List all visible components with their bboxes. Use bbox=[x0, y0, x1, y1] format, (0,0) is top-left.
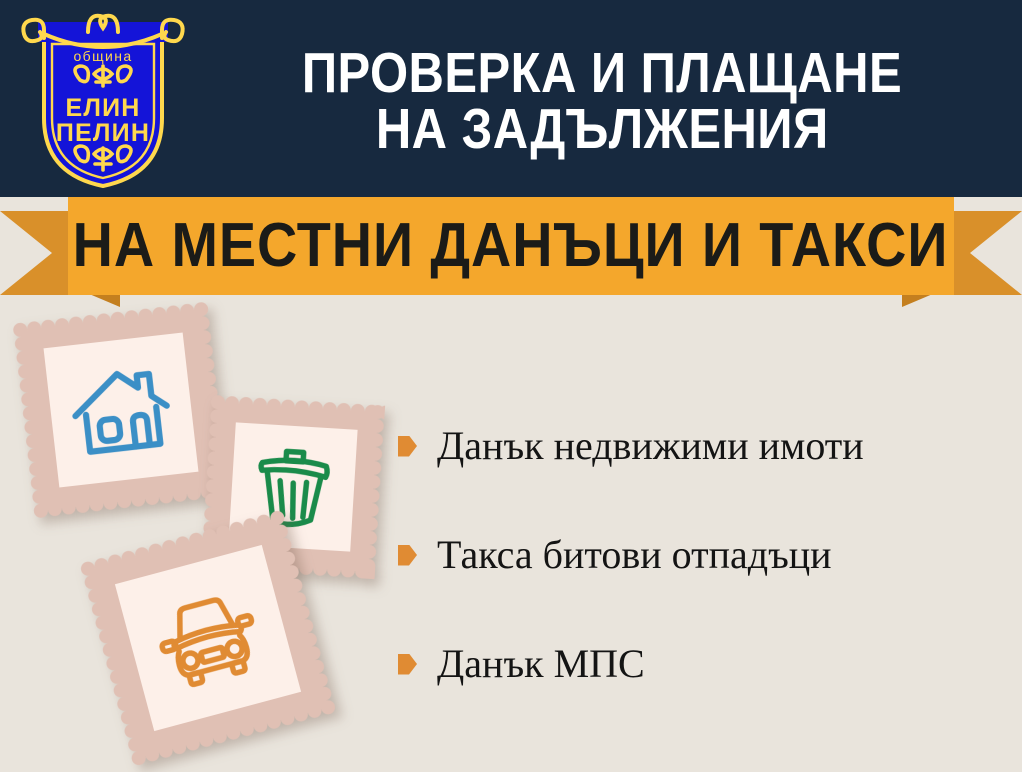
stamp-card-car-paper bbox=[115, 545, 301, 731]
list-item-label: Данък недвижими имоти bbox=[437, 425, 864, 467]
subtitle-ribbon: НА МЕСТНИ ДАНЪЦИ И ТАКСИ bbox=[0, 197, 1022, 309]
page-title-line-2: НА ЗАДЪЛЖЕНИЯ bbox=[376, 101, 829, 157]
list-item[interactable]: Данък МПС bbox=[398, 636, 1018, 692]
ribbon-text: НА МЕСТНИ ДАНЪЦИ И ТАКСИ bbox=[73, 215, 949, 277]
crest-text-line1: ЕЛИН bbox=[65, 94, 140, 122]
list-item[interactable]: Данък недвижими имоти bbox=[398, 418, 1018, 474]
stamp-card-group bbox=[0, 297, 420, 772]
page-title: ПРОВЕРКА И ПЛАЩАНЕ НА ЗАДЪЛЖЕНИЯ bbox=[196, 16, 1008, 186]
car-icon bbox=[143, 578, 274, 698]
municipality-crest-icon: община ЕЛИН ПЕЛИН bbox=[18, 8, 188, 190]
poster-root: община ЕЛИН ПЕЛИН bbox=[0, 0, 1022, 772]
crest-text-small: община bbox=[73, 48, 132, 64]
stamp-card-house bbox=[20, 309, 221, 510]
crest-text-line2: ПЕЛИН bbox=[56, 119, 150, 147]
list-item-label: Данък МПС bbox=[437, 643, 645, 685]
ribbon-band: НА МЕСТНИ ДАНЪЦИ И ТАКСИ bbox=[68, 197, 954, 295]
arrow-bullet-icon bbox=[398, 545, 417, 566]
list-item-label: Такса битови отпадъци bbox=[437, 534, 832, 576]
header-bar: община ЕЛИН ПЕЛИН bbox=[0, 0, 1022, 197]
arrow-bullet-icon bbox=[398, 436, 417, 457]
page-title-line-1: ПРОВЕРКА И ПЛАЩАНЕ bbox=[302, 45, 902, 101]
arrow-bullet-icon bbox=[398, 654, 417, 675]
tax-type-list: Данък недвижими имоти Такса битови отпад… bbox=[398, 418, 1018, 692]
stamp-card-house-paper bbox=[44, 333, 199, 488]
list-item[interactable]: Такса битови отпадъци bbox=[398, 527, 1018, 583]
house-icon bbox=[63, 355, 179, 464]
